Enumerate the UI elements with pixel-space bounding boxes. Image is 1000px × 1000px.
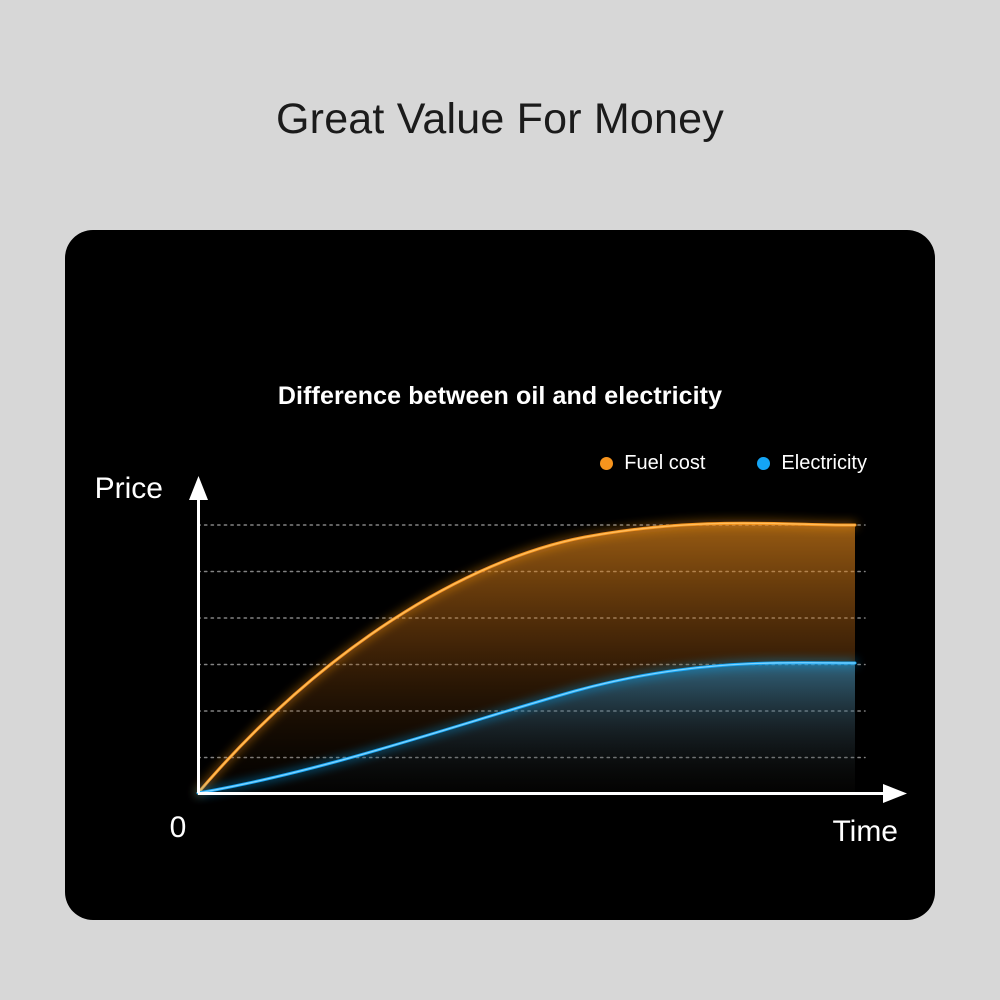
plot-area: Price Time 0 [65, 230, 935, 920]
y-axis-arrow-icon [189, 476, 208, 500]
x-axis-arrow-icon [883, 784, 907, 803]
origin-label: 0 [170, 811, 187, 844]
y-axis-label: Price [95, 472, 163, 505]
page-title: Great Value For Money [0, 96, 1000, 143]
x-axis-label: Time [832, 815, 898, 848]
page-root: Great Value For Money Difference between… [0, 0, 1000, 1000]
chart-panel: Difference between oil and electricity F… [65, 230, 935, 920]
